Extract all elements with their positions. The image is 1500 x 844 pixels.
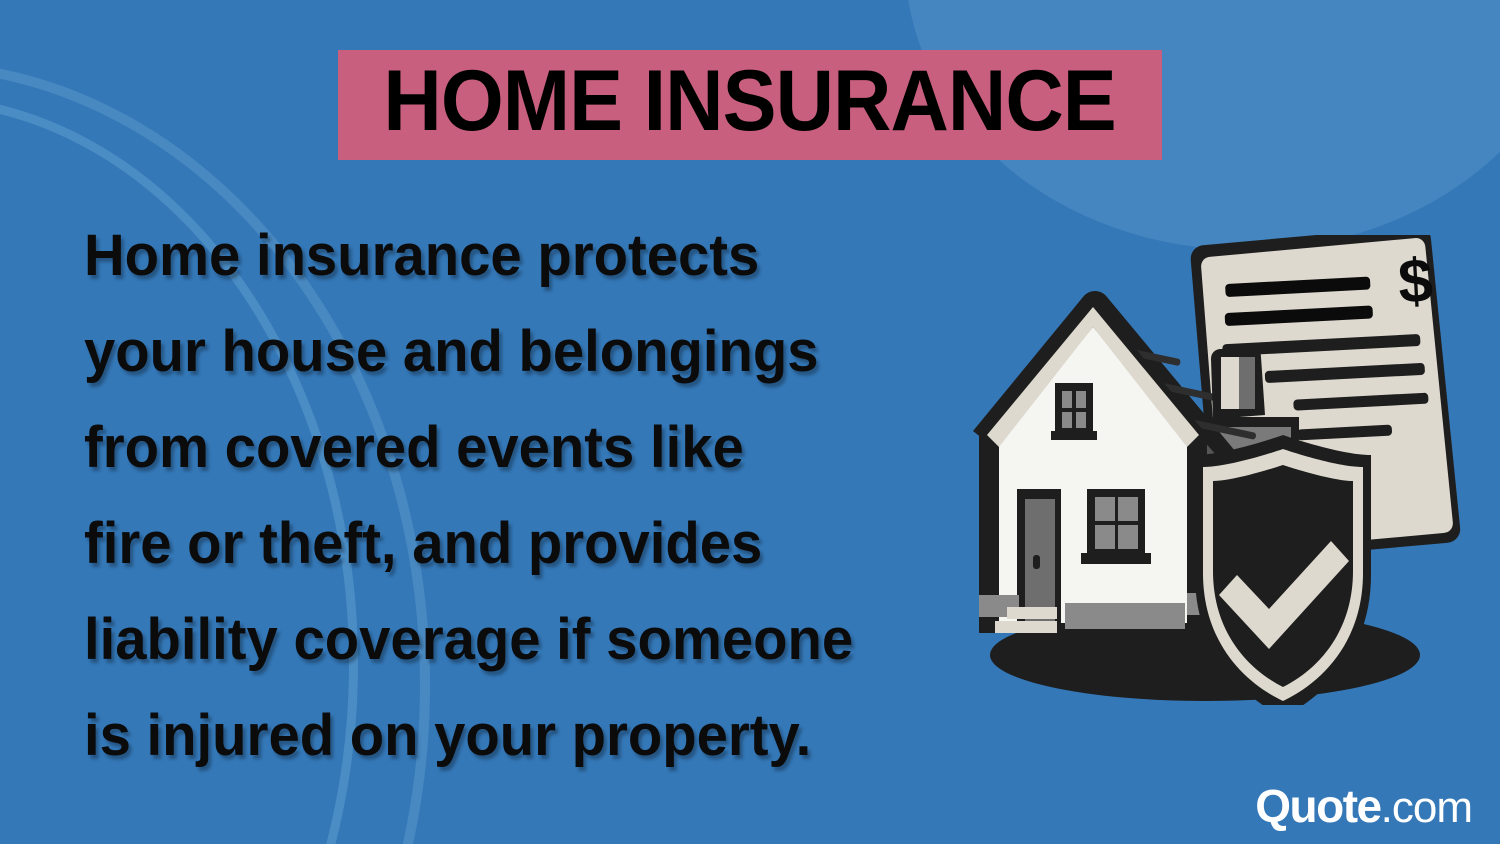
logo-tld: .com [1381, 786, 1472, 830]
body-line: is injured on your property. [84, 688, 938, 784]
body-line: Home insurance protects [84, 208, 938, 304]
body-line: your house and belongings [84, 304, 938, 400]
home-insurance-illustration: $ [955, 235, 1475, 705]
main-window [1081, 489, 1151, 564]
title-highlight-band: HOME INSURANCE [338, 50, 1161, 160]
title-text: HOME INSURANCE [384, 58, 1116, 144]
dollar-sign: $ [1397, 246, 1435, 317]
chimney [1211, 347, 1265, 419]
attic-window [1051, 383, 1097, 440]
body-line: fire or theft, and provides [84, 496, 938, 592]
front-door [1017, 489, 1061, 623]
page-title: HOME INSURANCE [0, 50, 1500, 160]
body-line: liability coverage if someone [84, 592, 938, 688]
quote-com-logo[interactable]: Quote .com [1255, 783, 1472, 830]
poster-canvas: HOME INSURANCE Home insurance protects y… [0, 0, 1500, 844]
body-line: from covered events like [84, 400, 938, 496]
logo-wordmark: Quote [1255, 783, 1380, 829]
body-copy: Home insurance protects your house and b… [84, 208, 964, 784]
